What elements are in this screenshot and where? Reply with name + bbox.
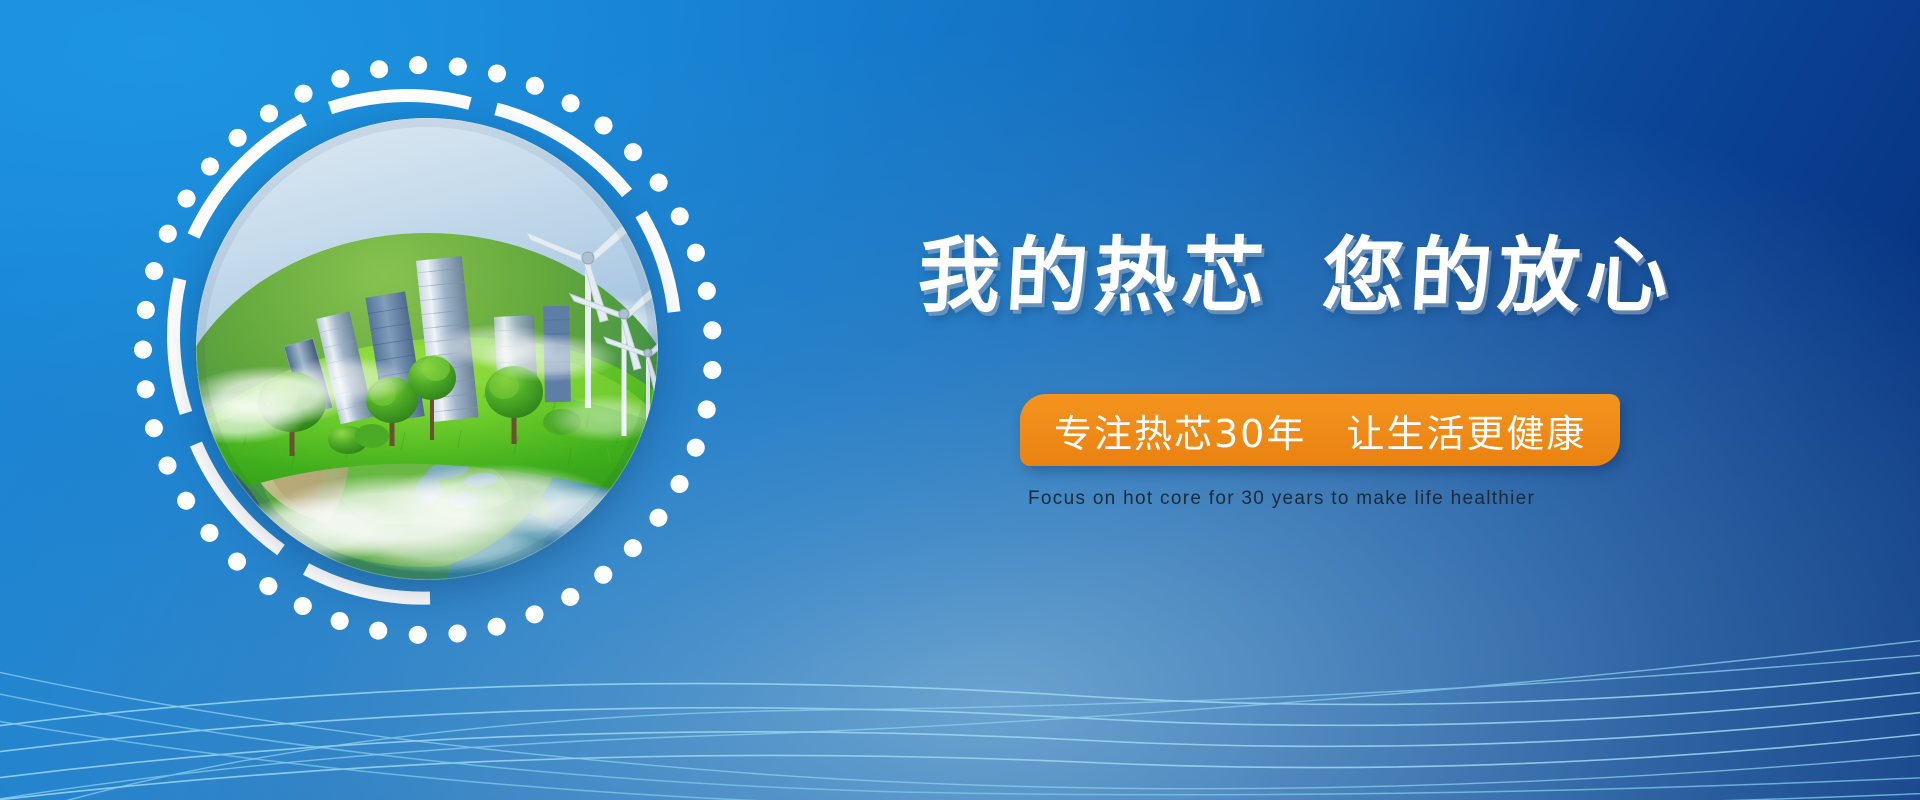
planet-image: [196, 118, 658, 580]
headline-part-1: 我的热芯: [916, 229, 1273, 324]
headline-part-2: 您的放心: [1320, 229, 1677, 324]
english-subtitle: Focus on hot core for 30 years to make l…: [1028, 488, 1468, 510]
planet-illustration: [196, 118, 658, 580]
page-title: 我的热芯您的放心: [878, 236, 1782, 318]
hero-banner: 我的热芯您的放心 专注热芯30年 让生活更健康 Focus on hot cor…: [0, 0, 1920, 800]
banner-text-block: 我的热芯您的放心 专注热芯30年 让生活更健康 Focus on hot cor…: [880, 236, 1780, 318]
eco-globe-graphic: [118, 40, 738, 660]
tagline-badge: 专注热芯30年 让生活更健康: [1020, 394, 1620, 466]
tagline-badge-text: 专注热芯30年 让生活更健康: [1054, 403, 1586, 458]
